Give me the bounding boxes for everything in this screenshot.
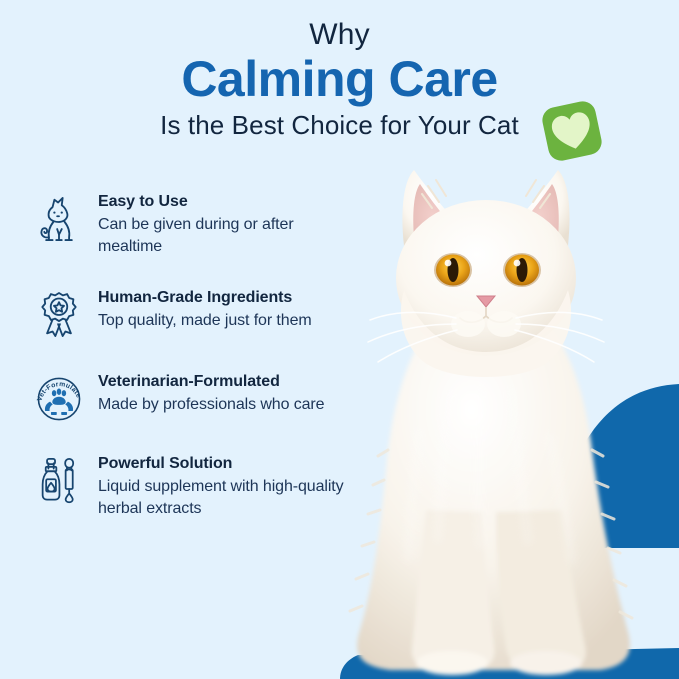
feature-description: Can be given during or after mealtime [98,214,346,258]
heart-badge-icon [538,97,607,166]
feature-description: Liquid supplement with high-quality herb… [98,476,346,520]
sitting-cat-icon [26,192,92,244]
feature-title: Human-Grade Ingredients [98,288,346,308]
feature-text: Powerful Solution Liquid supplement with… [92,454,346,520]
feature-item-powerful-solution: Powerful Solution Liquid supplement with… [26,454,346,520]
promo-poster: Why Calming Care Is the Best Choice for … [0,0,679,679]
feature-item-easy-to-use: Easy to Use Can be given during or after… [26,192,346,258]
paw-print [52,388,66,404]
feature-description: Top quality, made just for them [98,310,346,332]
award-ribbon-icon [26,288,92,340]
feature-description: Made by professionals who care [98,394,346,416]
feature-text: Human-Grade Ingredients Top quality, mad… [92,288,346,332]
cat-illustration [300,150,679,679]
feature-text: Easy to Use Can be given during or after… [92,192,346,258]
cat-photo [300,150,679,679]
vet-formulated-badge-icon: Vet-Formulated [26,372,92,424]
feature-list: Easy to Use Can be given during or after… [26,192,346,520]
headline-product-name: Calming Care [0,51,679,107]
feature-title: Easy to Use [98,192,346,212]
feature-title: Powerful Solution [98,454,346,474]
feature-item-human-grade: Human-Grade Ingredients Top quality, mad… [26,288,346,340]
feature-title: Veterinarian-Formulated [98,372,346,392]
headline-why: Why [0,18,679,52]
cat-head [396,200,576,377]
feature-item-vet-formulated: Vet-Formulated [26,372,346,424]
dropper-bottle-icon [26,454,92,506]
feature-text: Veterinarian-Formulated Made by professi… [92,372,346,416]
